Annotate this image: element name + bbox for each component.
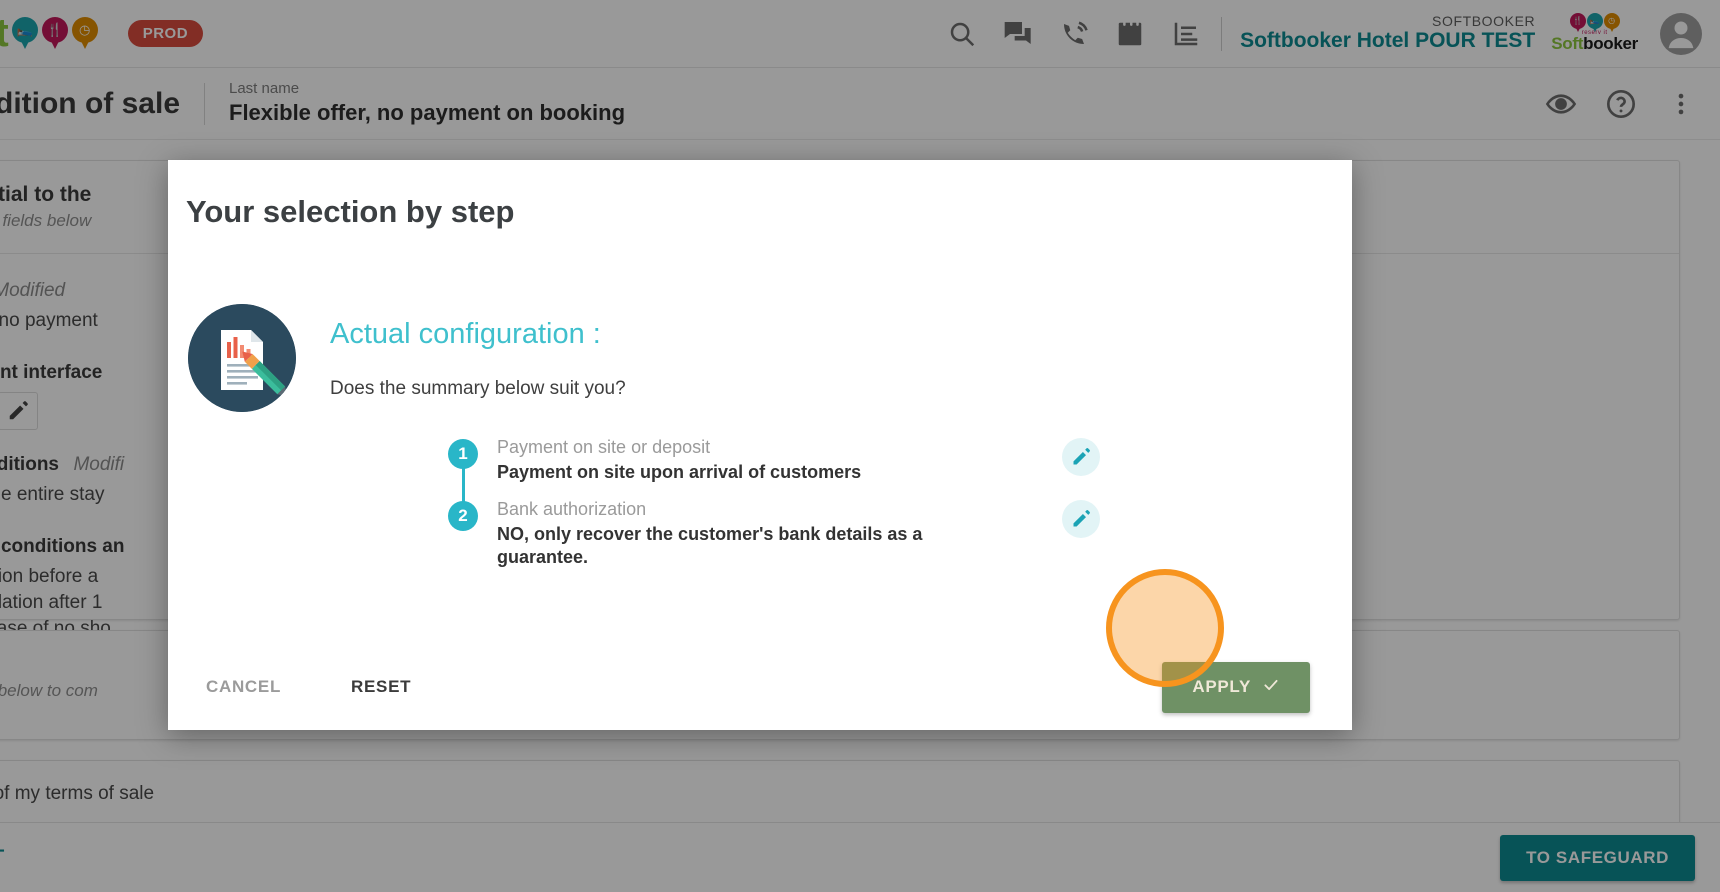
step-text: Bank authorization NO, only recover the …	[497, 498, 1008, 569]
check-icon	[1262, 676, 1280, 699]
step-item: 2 Bank authorization NO, only recover th…	[448, 498, 1008, 577]
step-subtitle: Bank authorization	[497, 498, 1008, 521]
pencil-icon[interactable]	[1062, 438, 1100, 476]
step-item: 1 Payment on site or deposit Payment on …	[448, 436, 1008, 492]
step-value: NO, only recover the customer's bank det…	[497, 523, 1008, 569]
dialog-footer: CANCEL RESET APPLY	[168, 644, 1352, 730]
dialog-title: Your selection by step	[186, 194, 1352, 230]
apply-button-label: APPLY	[1192, 677, 1251, 697]
step-subtitle: Payment on site or deposit	[497, 436, 861, 459]
step-text: Payment on site or deposit Payment on si…	[497, 436, 861, 484]
actual-configuration-heading: Actual configuration :	[330, 318, 601, 351]
pencil-icon[interactable]	[1062, 500, 1100, 538]
cancel-button[interactable]: CANCEL	[190, 665, 297, 709]
dialog-body: Actual configuration : Does the summary …	[168, 230, 1352, 644]
summary-question: Does the summary below suit you?	[330, 378, 626, 400]
document-edit-illustration-icon	[188, 304, 296, 412]
screen: vit 🛌 🍴 ◷ PROD	[0, 0, 1720, 892]
selection-by-step-dialog: Your selection by step	[168, 160, 1352, 730]
step-value: Payment on site upon arrival of customer…	[497, 461, 861, 484]
reset-button[interactable]: RESET	[335, 665, 427, 709]
steps-list: 1 Payment on site or deposit Payment on …	[448, 436, 1008, 577]
apply-button[interactable]: APPLY	[1162, 662, 1310, 713]
step-number-badge: 2	[448, 501, 478, 531]
step-number-badge: 1	[448, 439, 478, 469]
